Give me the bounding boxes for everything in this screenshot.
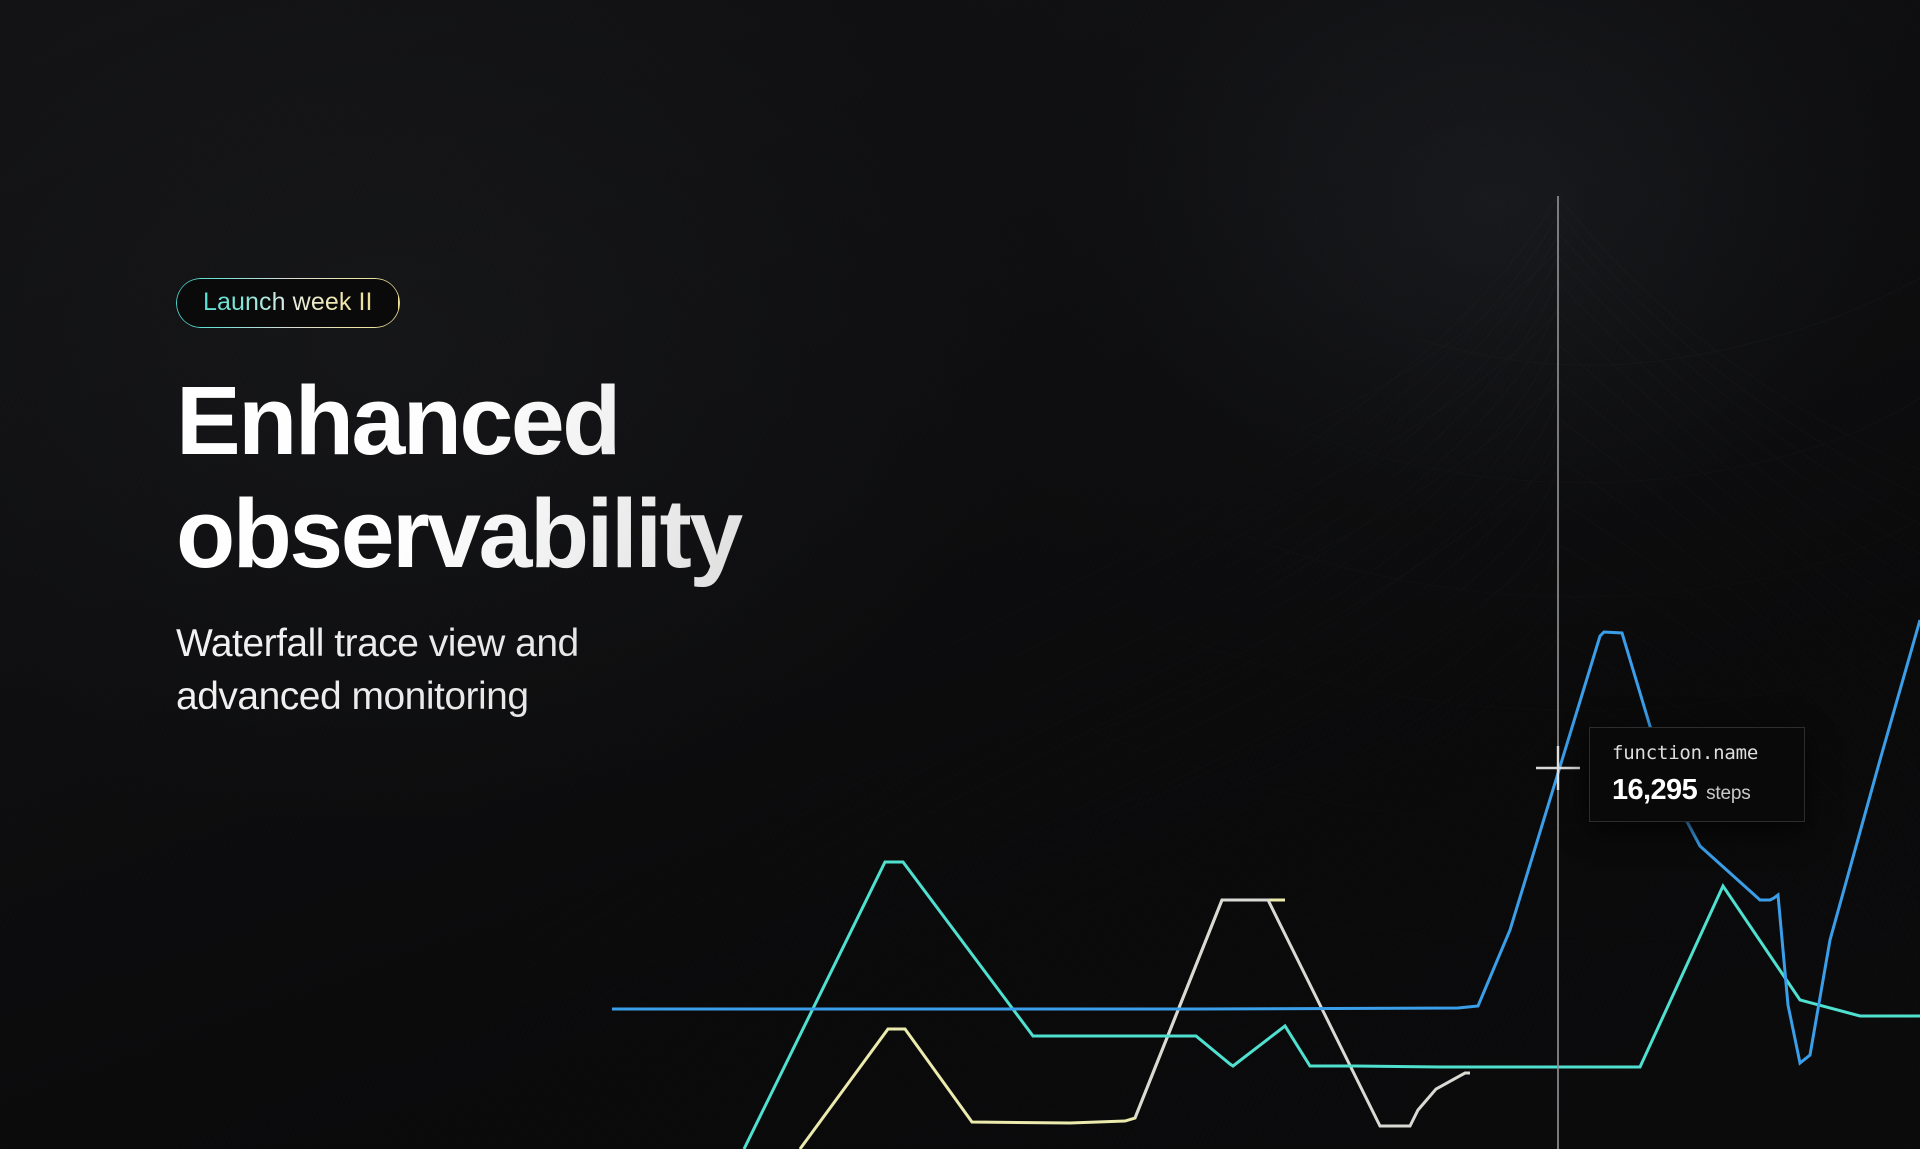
trace-white	[1135, 900, 1470, 1126]
chart-tooltip: function.name 16,295 steps	[1589, 727, 1805, 822]
launch-week-badge[interactable]: Launch week II	[176, 278, 400, 328]
tooltip-value-row: 16,295 steps	[1612, 776, 1784, 805]
trace-teal	[744, 862, 1920, 1149]
launch-week-badge-label: Launch week II	[203, 290, 373, 315]
page-title: Enhanced observability	[176, 364, 1076, 591]
tooltip-value: 16,295	[1612, 776, 1697, 805]
page-subtitle-line-1: Waterfall trace view and	[176, 617, 1076, 670]
tooltip-series-name: function.name	[1612, 744, 1784, 763]
hero-copy-block: Launch week II Enhanced observability Wa…	[176, 278, 1076, 724]
page-title-line-2: observability	[176, 477, 1076, 590]
tooltip-unit: steps	[1706, 784, 1750, 803]
page-subtitle: Waterfall trace view and advanced monito…	[176, 617, 1076, 724]
page-subtitle-line-2: advanced monitoring	[176, 670, 1076, 723]
page-title-line-1: Enhanced	[176, 364, 1076, 477]
crosshair-icon	[1536, 746, 1580, 790]
trace-pale-yellow	[800, 900, 1285, 1149]
hero-canvas: Launch week II Enhanced observability Wa…	[0, 0, 1920, 1149]
